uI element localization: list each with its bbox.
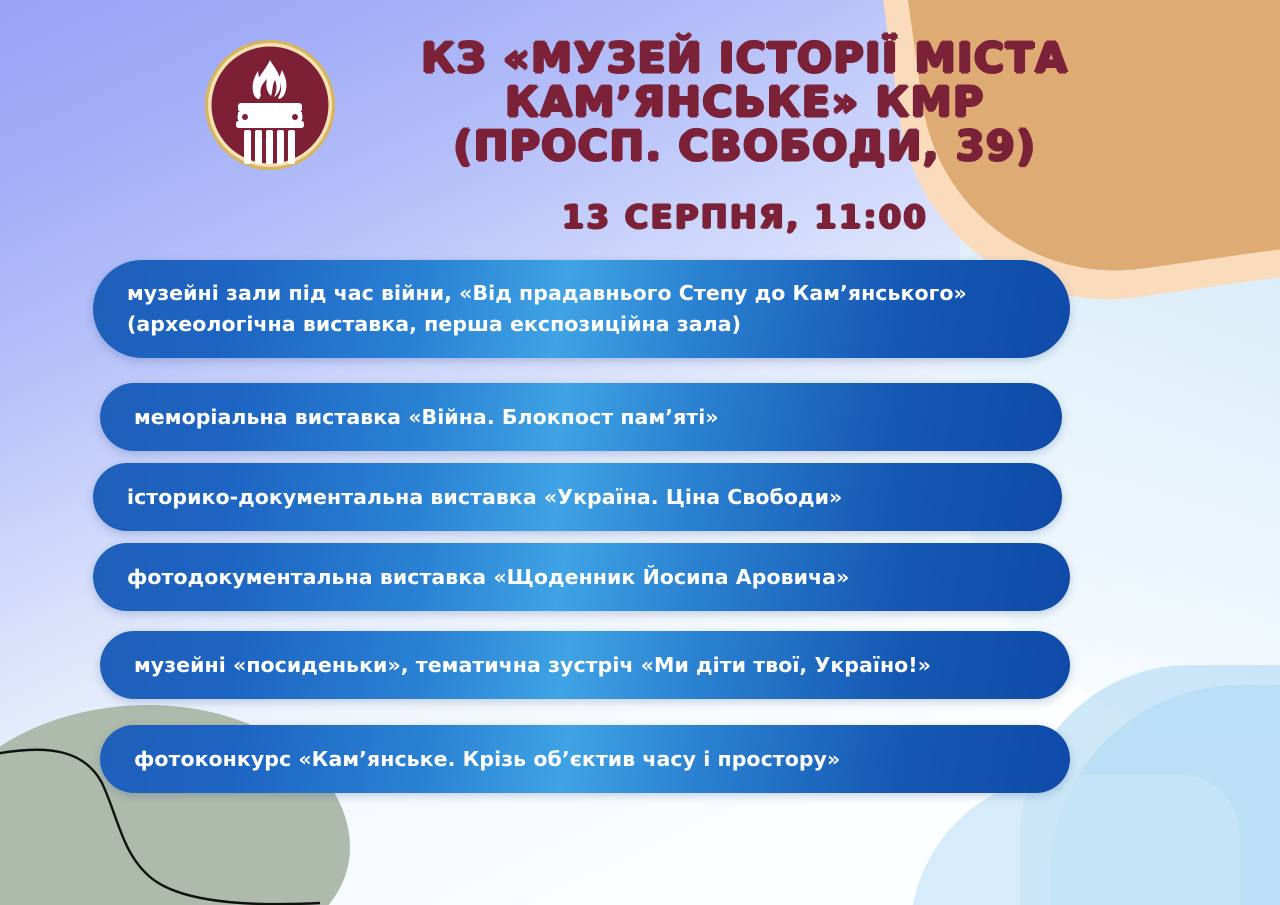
list-item-label: меморіальна виставка «Війна. Блокпост па… xyxy=(134,402,719,433)
list-item-label: історико-документальна виставка «Україна… xyxy=(127,482,842,513)
poster-canvas: КЗ «МУЗЕЙ ІСТОРІЇ МІСТА КАМ’ЯНСЬКЕ» КМР … xyxy=(0,0,1280,905)
museum-flame-column-emblem-icon xyxy=(203,38,337,172)
list-item-label: фотодокументальна виставка «Щоденник Йос… xyxy=(127,562,849,593)
list-item[interactable]: музейні зали під час війни, «Від прадавн… xyxy=(93,260,1070,358)
list-item[interactable]: музейні «посиденьки», тематична зустріч … xyxy=(100,631,1070,699)
list-item-label: фотоконкурс «Кам’янське. Крізь об’єктив … xyxy=(134,744,840,775)
list-item-label: музейні «посиденьки», тематична зустріч … xyxy=(134,650,931,681)
bottom-right-blob-c xyxy=(910,775,1240,905)
poster-header: КЗ «МУЗЕЙ ІСТОРІЇ МІСТА КАМ’ЯНСЬКЕ» КМР … xyxy=(0,0,1280,250)
event-date-time: 13 СЕРПНЯ, 11:00 xyxy=(350,198,1140,236)
list-item[interactable]: історико-документальна виставка «Україна… xyxy=(93,463,1062,531)
page-title: КЗ «МУЗЕЙ ІСТОРІЇ МІСТА КАМ’ЯНСЬКЕ» КМР … xyxy=(350,36,1140,168)
title-block: КЗ «МУЗЕЙ ІСТОРІЇ МІСТА КАМ’ЯНСЬКЕ» КМР … xyxy=(350,36,1140,236)
bottom-right-blob-a xyxy=(1020,665,1280,905)
list-item[interactable]: фотодокументальна виставка «Щоденник Йос… xyxy=(93,543,1070,611)
list-item-label: музейні зали під час війни, «Від прадавн… xyxy=(127,278,967,340)
bottom-right-blob-b xyxy=(1050,685,1280,905)
list-item[interactable]: фотоконкурс «Кам’янське. Крізь об’єктив … xyxy=(100,725,1070,793)
list-item[interactable]: меморіальна виставка «Війна. Блокпост па… xyxy=(100,383,1062,451)
